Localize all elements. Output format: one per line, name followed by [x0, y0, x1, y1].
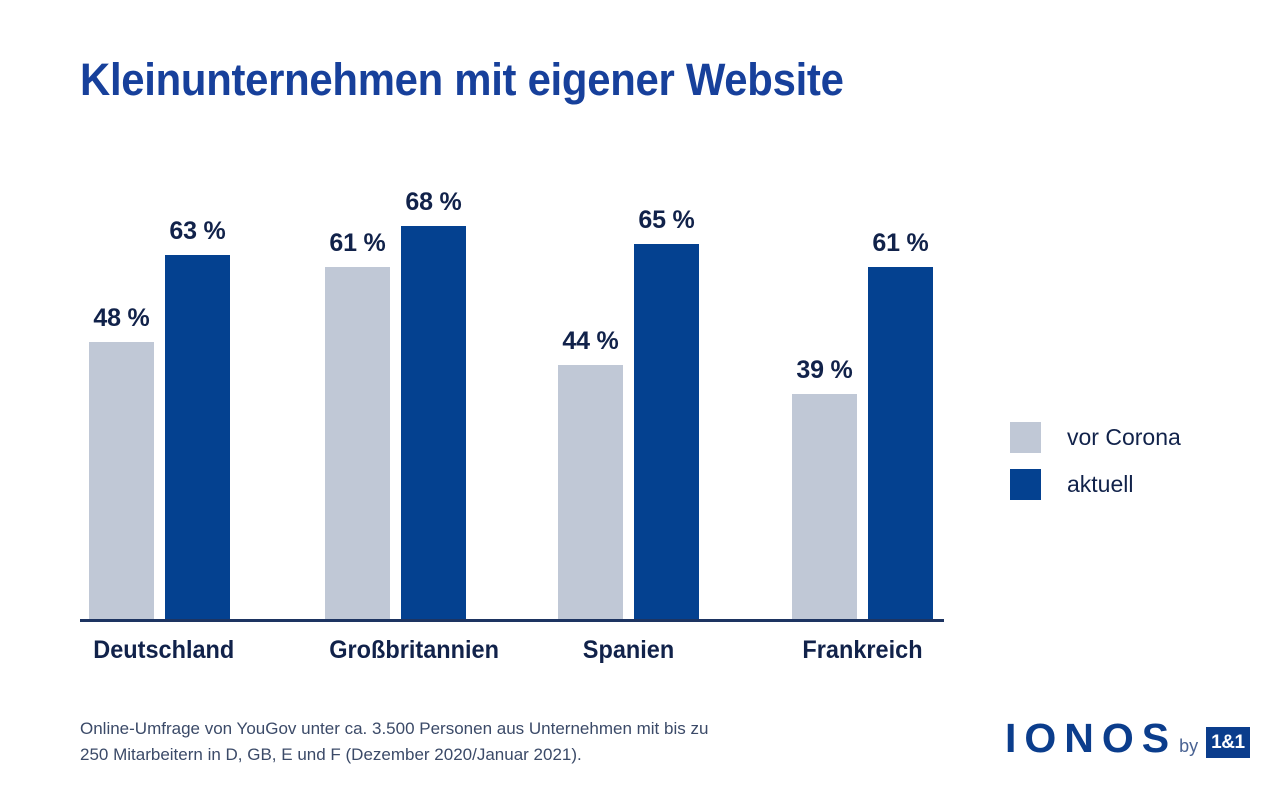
bar-value-label: 39 % [796, 356, 852, 385]
bar-value-label: 44 % [562, 327, 618, 356]
bar-value-label: 48 % [93, 304, 149, 333]
logo-1and1-badge: 1&1 [1206, 727, 1249, 758]
bar-value-label: 63 % [169, 217, 225, 246]
legend-item-vor-corona[interactable]: vor Corona [1010, 414, 1181, 461]
chart-plot-area: 48 % 63 % 61 % 68 % 44 % 65 % 39 % 61 % [80, 150, 944, 622]
page-title: Kleinunternehmen mit eigener Website [80, 54, 844, 106]
footnote-line-2: 250 Mitarbeitern in D, GB, E und F (Deze… [80, 742, 820, 768]
bar-deutschland-aktuell[interactable]: 63 % [165, 255, 230, 619]
bar-frankreich-vor-corona[interactable]: 39 % [792, 394, 857, 619]
bar-value-label: 61 % [329, 229, 385, 258]
bar-deutschland-vor-corona[interactable]: 48 % [89, 342, 154, 619]
legend-swatch-icon [1010, 422, 1041, 453]
x-tick-label-spanien: Spanien [562, 636, 695, 665]
legend-item-aktuell[interactable]: aktuell [1010, 461, 1181, 508]
logo-by-text: by [1179, 737, 1198, 755]
bar-grossbritannien-aktuell[interactable]: 68 % [401, 226, 466, 619]
bar-value-label: 61 % [872, 229, 928, 258]
legend-swatch-icon [1010, 469, 1041, 500]
bar-frankreich-aktuell[interactable]: 61 % [868, 267, 933, 619]
bar-spanien-vor-corona[interactable]: 44 % [558, 365, 623, 619]
chart-legend: vor Corona aktuell [1010, 414, 1181, 508]
source-footnote: Online-Umfrage von YouGov unter ca. 3.50… [80, 716, 820, 769]
logo-wordmark: IONOS [1005, 718, 1177, 759]
bar-group-deutschland: 48 % 63 % [89, 150, 230, 619]
footnote-line-1: Online-Umfrage von YouGov unter ca. 3.50… [80, 716, 820, 742]
bar-group-grossbritannien: 61 % 68 % [325, 150, 466, 619]
legend-item-label: vor Corona [1067, 424, 1181, 451]
x-tick-label-grossbritannien: Großbritannien [329, 636, 462, 665]
legend-item-label: aktuell [1067, 471, 1133, 498]
x-tick-label-deutschland: Deutschland [93, 636, 226, 665]
bar-spanien-aktuell[interactable]: 65 % [634, 244, 699, 619]
bar-grossbritannien-vor-corona[interactable]: 61 % [325, 267, 390, 619]
bar-group-spanien: 44 % 65 % [558, 150, 699, 619]
x-axis-line [80, 619, 944, 622]
bar-group-frankreich: 39 % 61 % [792, 150, 933, 619]
bar-value-label: 68 % [405, 188, 461, 217]
bar-value-label: 65 % [638, 206, 694, 235]
x-tick-label-frankreich: Frankreich [796, 636, 929, 665]
ionos-logo: IONOS by 1&1 [1005, 718, 1250, 759]
